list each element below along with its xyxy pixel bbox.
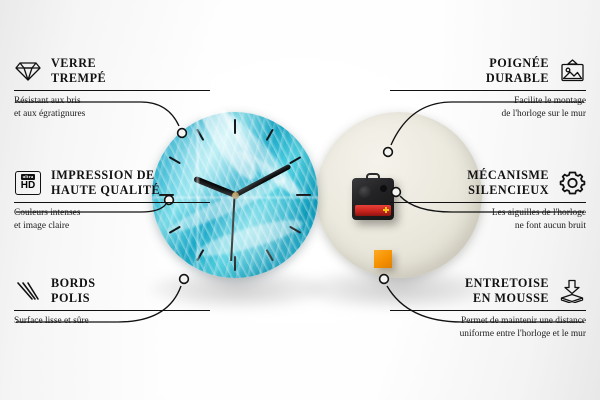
feature-verre-trempe: VERRE TREMPÉ Résistant aux bris et aux é… bbox=[14, 56, 210, 120]
feature-entretoise-en-mousse: ENTRETOISE EN MOUSSE Permet de maintenir… bbox=[390, 276, 586, 340]
feature-title-line1: MÉCANISME bbox=[467, 168, 549, 183]
feature-desc-line1: Les aiguilles de l'horloge bbox=[390, 207, 586, 220]
second-hand bbox=[231, 195, 236, 261]
feature-desc-line1: Facilite le montage bbox=[390, 95, 586, 108]
feature-title: BORDS POLIS bbox=[51, 276, 96, 306]
feather-streak bbox=[195, 213, 306, 262]
feature-title: ENTRETOISE EN MOUSSE bbox=[465, 276, 549, 306]
feature-desc-line1: Permet de maintenir une distance bbox=[390, 315, 586, 328]
hour-marker-2 bbox=[235, 156, 302, 196]
feature-description: Facilite le montage de l'horloge sur le … bbox=[390, 95, 586, 120]
infographic-canvas: VERRE TREMPÉ Résistant aux bris et aux é… bbox=[0, 0, 600, 400]
picture-hanger-icon bbox=[558, 58, 586, 84]
feather-streak bbox=[215, 105, 305, 202]
mechanism-hanger bbox=[366, 173, 380, 181]
feature-desc-line1: Résistant aux bris bbox=[14, 95, 210, 108]
mechanism-dial bbox=[359, 186, 372, 199]
gear-icon bbox=[558, 170, 586, 196]
feature-header: ultra HD IMPRESSION DE HAUTE QUALITÉ bbox=[14, 168, 210, 198]
feature-title-line2: EN MOUSSE bbox=[465, 291, 549, 306]
feature-desc-line1: Couleurs intenses bbox=[14, 207, 210, 220]
feature-title: MÉCANISME SILENCIEUX bbox=[467, 168, 549, 198]
feature-title-line1: IMPRESSION DE bbox=[51, 168, 160, 183]
feature-desc-line2: ne font aucun bruit bbox=[390, 220, 586, 233]
feature-desc-line2: et image claire bbox=[14, 220, 210, 233]
divider bbox=[14, 90, 210, 91]
battery bbox=[355, 205, 391, 216]
feature-description: Permet de maintenir une distance uniform… bbox=[390, 315, 586, 340]
feature-header: ENTRETOISE EN MOUSSE bbox=[390, 276, 586, 306]
feature-title-line1: ENTRETOISE bbox=[465, 276, 549, 291]
feature-title-line2: POLIS bbox=[51, 291, 96, 306]
ultra-hd-icon: ultra HD bbox=[14, 170, 42, 196]
feature-title-line1: VERRE bbox=[51, 56, 106, 71]
hd-badge: ultra HD bbox=[15, 171, 41, 195]
feature-desc-line2: uniforme entre l'horloge et le mur bbox=[390, 328, 586, 341]
feature-title: POIGNÉE DURABLE bbox=[486, 56, 549, 86]
hour-marker-6 bbox=[234, 195, 236, 271]
feature-desc-line2: et aux égratignures bbox=[14, 108, 210, 121]
feature-bords-polis: BORDS POLIS Surface lisse et sûre bbox=[14, 276, 210, 328]
feature-description: Surface lisse et sûre bbox=[14, 315, 210, 328]
feature-title-line2: DURABLE bbox=[486, 71, 549, 86]
mechanism-screw bbox=[380, 185, 387, 192]
feature-description: Les aiguilles de l'horloge ne font aucun… bbox=[390, 207, 586, 232]
feature-header: VERRE TREMPÉ bbox=[14, 56, 210, 86]
diamond-icon bbox=[14, 58, 42, 84]
divider bbox=[390, 202, 586, 203]
divider bbox=[390, 310, 586, 311]
feature-title-line1: BORDS bbox=[51, 276, 96, 291]
foam-spacer-icon bbox=[558, 278, 586, 304]
feature-title-line2: HAUTE QUALITÉ bbox=[51, 183, 160, 198]
feature-desc-line1: Surface lisse et sûre bbox=[14, 315, 210, 328]
hour-marker-12 bbox=[234, 119, 236, 195]
feature-description: Couleurs intenses et image claire bbox=[14, 207, 210, 232]
hands-center-cap bbox=[232, 192, 239, 199]
foam-spacer bbox=[374, 250, 392, 268]
feature-impression-haute-qualite: ultra HD IMPRESSION DE HAUTE QUALITÉ Cou… bbox=[14, 168, 210, 232]
feature-desc-line2: de l'horloge sur le mur bbox=[390, 108, 586, 121]
hour-marker-3 bbox=[235, 194, 311, 196]
feature-header: BORDS POLIS bbox=[14, 276, 210, 306]
feature-title-line1: POIGNÉE bbox=[486, 56, 549, 71]
hd-badge-hd-label: HD bbox=[21, 181, 35, 191]
divider bbox=[14, 202, 210, 203]
hour-marker-1 bbox=[234, 129, 274, 196]
feather-streak bbox=[235, 147, 308, 201]
divider bbox=[14, 310, 210, 311]
hour-marker-4 bbox=[235, 194, 302, 234]
clock-mechanism bbox=[352, 178, 394, 220]
hour-marker-5 bbox=[234, 195, 274, 262]
feature-title: IMPRESSION DE HAUTE QUALITÉ bbox=[51, 168, 160, 198]
feature-title: VERRE TREMPÉ bbox=[51, 56, 106, 86]
polished-edges-icon bbox=[14, 278, 42, 304]
feature-mecanisme-silencieux: MÉCANISME SILENCIEUX Les aiguilles de l'… bbox=[390, 168, 586, 232]
divider bbox=[390, 90, 586, 91]
feature-title-line2: TREMPÉ bbox=[51, 71, 106, 86]
feature-description: Résistant aux bris et aux égratignures bbox=[14, 95, 210, 120]
feature-header: MÉCANISME SILENCIEUX bbox=[390, 168, 586, 198]
feature-header: POIGNÉE DURABLE bbox=[390, 56, 586, 86]
feature-poignee-durable: POIGNÉE DURABLE Facilite le montage de l… bbox=[390, 56, 586, 120]
minute-hand bbox=[234, 164, 291, 198]
feature-title-line2: SILENCIEUX bbox=[467, 183, 549, 198]
